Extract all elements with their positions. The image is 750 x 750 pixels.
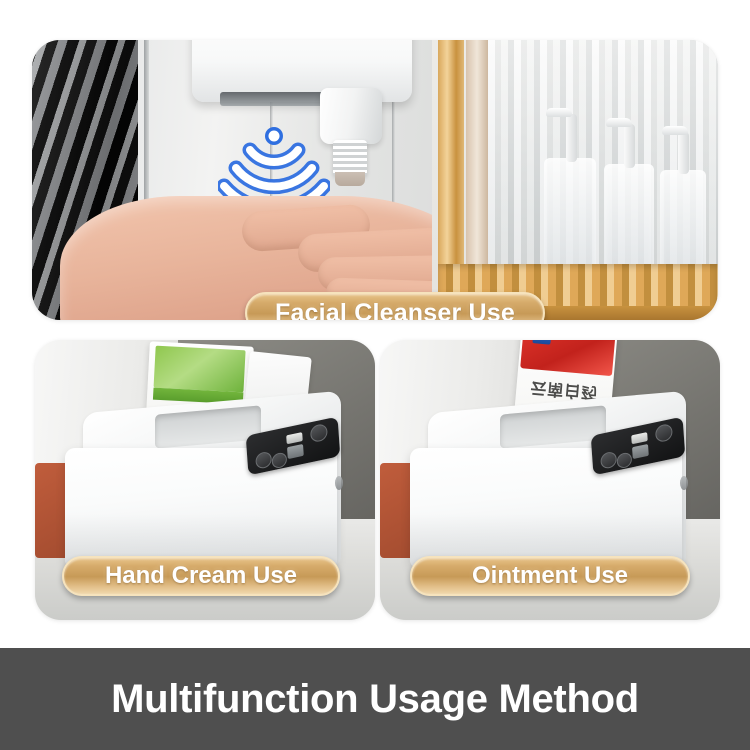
device-front-shading [410,448,682,568]
display-screen [286,432,303,444]
plus-button[interactable] [271,451,287,469]
pump-head-3 [662,126,688,135]
minus-button[interactable] [600,451,617,470]
display-screen [631,432,648,444]
pump-head-2 [606,118,632,127]
power-button[interactable] [655,423,673,443]
pump-head-1 [546,108,572,117]
pump-bottle-2 [604,164,654,276]
mode-indicator [632,444,649,459]
label-facial-cleanser-use[interactable]: Facial Cleanser Use [245,292,545,320]
pump-stem-3 [678,132,689,174]
pump-bottle-3 [660,170,706,276]
hand-cream-tube-label [154,346,246,393]
power-button[interactable] [310,423,328,443]
label-hand-cream-use[interactable]: Hand Cream Use [62,556,340,596]
dispenser-nozzle-tip [335,172,365,186]
ointment-tube-cap [520,340,615,376]
plus-button[interactable] [616,451,632,469]
device-front-shading [65,448,337,568]
panel-hand-cream[interactable]: 护手霜 Hand Cream Use [35,340,375,620]
minus-button[interactable] [255,451,272,470]
panel-ointment[interactable]: 云南白药 Ointment Use [380,340,720,620]
panel-facial-cleanser[interactable]: Facial Cleanser Use [32,40,718,320]
gold-framed-cabinet [432,40,718,320]
label-ointment-use-text: Ointment Use [472,562,628,590]
label-hand-cream-use-text: Hand Cream Use [105,562,297,590]
pump-stem-1 [566,114,577,162]
dispenser-nozzle-thread [333,140,367,176]
ointment-tube-blue-mark [532,340,551,345]
footer-banner: Multifunction Usage Method [0,648,750,750]
label-facial-cleanser-use-text: Facial Cleanser Use [275,299,515,321]
device-sensor-indicator [680,476,688,490]
product-usage-infographic: Facial Cleanser Use 护手霜 [0,0,750,750]
footer-title: Multifunction Usage Method [111,677,639,722]
device-sensor-indicator [335,476,343,490]
pump-stem-2 [624,124,635,168]
mode-indicator [287,444,304,459]
label-ointment-use[interactable]: Ointment Use [410,556,690,596]
pump-bottle-1 [544,158,596,276]
